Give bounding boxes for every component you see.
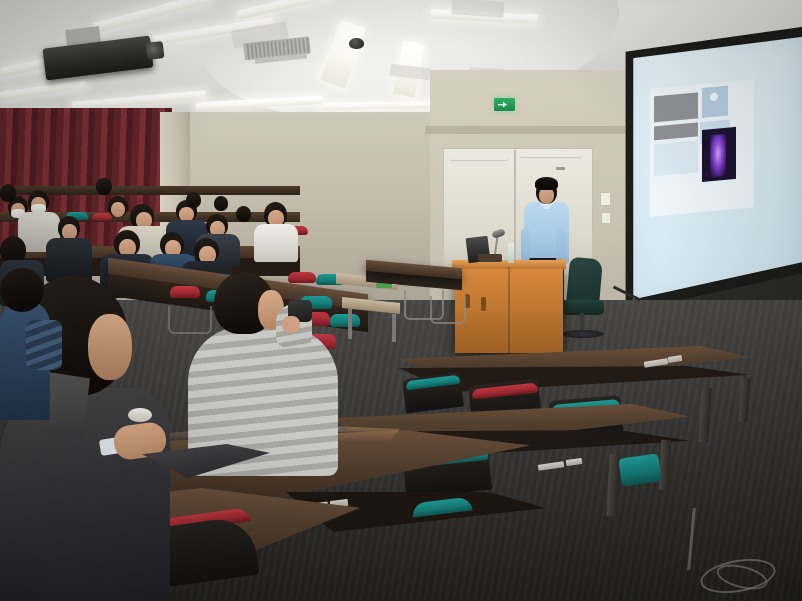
- lecture-hall-photo: Lecture hall seminar presentation Univer…: [0, 0, 802, 601]
- presentation-slide: [650, 79, 754, 216]
- door-split-line: [514, 150, 516, 272]
- chair-red[interactable]: [92, 213, 112, 221]
- door-push-bar[interactable]: [520, 153, 582, 157]
- attendee-face: [111, 202, 125, 217]
- attendee-scarf: [26, 320, 62, 370]
- attendee-head: [0, 268, 44, 312]
- lectern-slot: [481, 297, 486, 311]
- dome-camera-icon: [349, 38, 364, 49]
- attendee-hand: [282, 316, 300, 333]
- paper-cup: [128, 408, 152, 422]
- lectern-edge: [508, 267, 510, 353]
- attendee-suit-face: [88, 314, 132, 380]
- door-push-bar[interactable]: [450, 156, 508, 160]
- chair-red[interactable]: [288, 272, 316, 283]
- slide-violet-glow: [710, 134, 726, 177]
- wall-switch-plate[interactable]: [600, 192, 611, 206]
- chair-red[interactable]: [170, 286, 200, 298]
- attendee-torso: [254, 224, 298, 262]
- table-leg: [348, 309, 352, 339]
- door-handle[interactable]: [556, 167, 565, 170]
- slide-panel-gray-plot: [654, 92, 698, 140]
- attendee-head: [186, 192, 201, 208]
- chair-legs: [168, 306, 212, 334]
- office-chair-base: [562, 330, 604, 338]
- chair-legs: [430, 296, 466, 324]
- attendee-head: [214, 196, 228, 211]
- attendee-head: [236, 206, 251, 222]
- double-doors[interactable]: [443, 148, 593, 276]
- presenter-arm: [521, 228, 530, 262]
- wall-outlet-plate[interactable]: [601, 212, 611, 224]
- slide-panel-blue-micrograph: [702, 86, 728, 118]
- chair-teal[interactable]: [618, 453, 662, 486]
- attendee-head: [96, 178, 112, 195]
- attendee-head: [0, 184, 16, 202]
- chair-teal[interactable]: [330, 314, 360, 327]
- lectern-papers: [478, 254, 502, 262]
- presenter-hair: [535, 177, 558, 190]
- wall-trim: [425, 126, 625, 134]
- slide-panel-light-chart: [654, 140, 698, 176]
- table-leg: [392, 314, 396, 342]
- water-bottle[interactable]: [508, 243, 514, 263]
- exit-sign-icon: [494, 98, 515, 111]
